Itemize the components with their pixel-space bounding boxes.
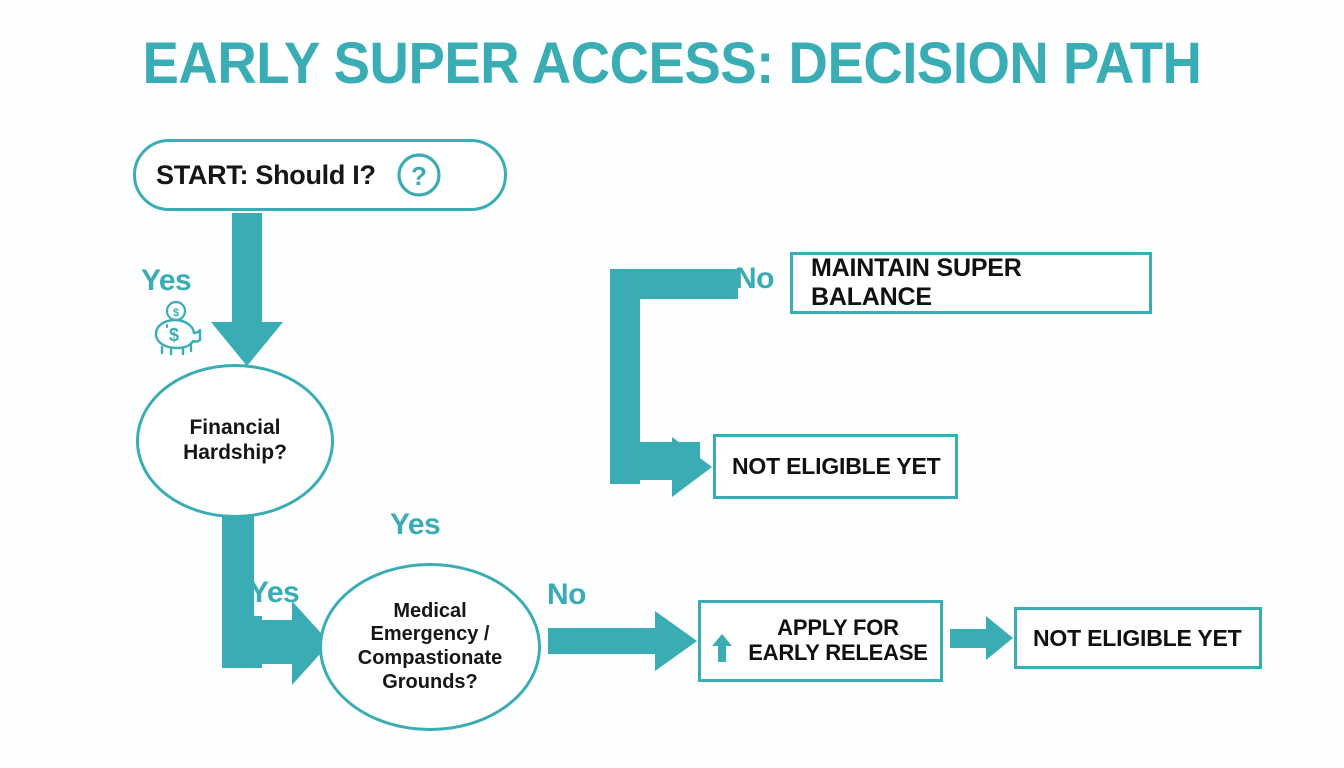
apply-label: APPLY FOR EARLY RELEASE bbox=[736, 616, 940, 665]
apply-line-2: EARLY RELEASE bbox=[736, 641, 940, 666]
edge-label-yes-hardship-to-medical: Yes bbox=[249, 576, 299, 610]
svg-text:$: $ bbox=[169, 325, 179, 345]
edge-label-no-medical-to-apply: No bbox=[547, 578, 586, 612]
edge-label-yes-start-to-hardship: Yes bbox=[141, 264, 191, 298]
node-medical-emergency-label: Medical Emergency / Compastionate Ground… bbox=[358, 600, 502, 694]
edge-label-no-to-maintain: No bbox=[735, 262, 774, 296]
node-financial-hardship[interactable]: Financial Hardship? bbox=[136, 364, 334, 518]
arrow-start-to-hardship bbox=[211, 213, 283, 366]
medical-line-4: Grounds? bbox=[358, 671, 502, 695]
piggy-bank-icon: $ $ bbox=[143, 300, 205, 356]
svg-text:?: ? bbox=[411, 161, 427, 191]
medical-line-1: Medical bbox=[358, 600, 502, 624]
node-medical-emergency[interactable]: Medical Emergency / Compastionate Ground… bbox=[319, 563, 541, 731]
question-mark-circle-icon: ? bbox=[396, 152, 442, 198]
arrow-apply-to-not-eligible bbox=[950, 616, 1013, 660]
medical-line-3: Compastionate bbox=[358, 647, 502, 671]
node-apply-for-early-release[interactable]: APPLY FOR EARLY RELEASE bbox=[698, 600, 943, 682]
node-not-eligible-yet-lower[interactable]: NOT ELIGIBLE YET bbox=[1014, 607, 1262, 669]
flowchart-canvas: EARLY SUPER ACCESS: DECISION PATH bbox=[0, 0, 1344, 768]
medical-line-2: Emergency / bbox=[358, 623, 502, 647]
hardship-line-2: Hardship? bbox=[183, 441, 287, 466]
node-financial-hardship-label: Financial Hardship? bbox=[183, 416, 287, 466]
node-start-label: START: Should I? bbox=[156, 160, 376, 191]
node-start[interactable]: START: Should I? ? bbox=[133, 139, 507, 211]
node-not-eligible-yet-upper[interactable]: NOT ELIGIBLE YET bbox=[713, 434, 958, 499]
page-title: EARLY SUPER ACCESS: DECISION PATH bbox=[40, 34, 1303, 95]
svg-text:$: $ bbox=[173, 307, 179, 319]
arrow-up-icon bbox=[711, 633, 733, 663]
arrow-medical-to-apply bbox=[548, 611, 697, 671]
node-maintain-super-balance[interactable]: MAINTAIN SUPER BALANCE bbox=[790, 252, 1152, 314]
hardship-line-1: Financial bbox=[183, 416, 287, 441]
apply-line-1: APPLY FOR bbox=[736, 616, 940, 641]
edge-label-yes-above-medical: Yes bbox=[390, 508, 440, 542]
